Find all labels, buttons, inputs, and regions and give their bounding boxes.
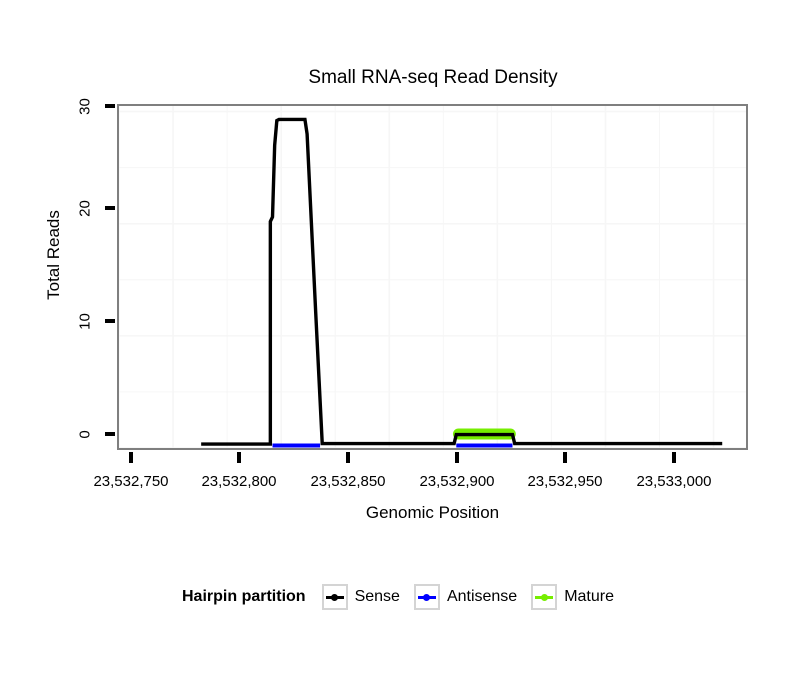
y-tick-label-20: 20 <box>78 194 93 224</box>
x-tick-mark-0 <box>129 452 133 463</box>
x-tick-mark-1 <box>237 452 241 463</box>
legend-item-antisense[interactable]: Antisense <box>414 584 517 610</box>
x-tick-mark-4 <box>563 452 567 463</box>
gridlines-minor <box>119 106 746 448</box>
legend-label-antisense: Antisense <box>447 588 517 606</box>
legend-item-sense[interactable]: Sense <box>322 584 400 610</box>
chart-title: Small RNA-seq Read Density <box>117 66 749 90</box>
y-tick-mark-20 <box>105 206 115 210</box>
legend-label-sense: Sense <box>355 588 400 606</box>
legend-label-mature: Mature <box>564 588 614 606</box>
legend-item-mature[interactable]: Mature <box>531 584 614 610</box>
y-tick-label-0: 0 <box>78 420 93 450</box>
y-tick-label-10: 10 <box>78 307 93 337</box>
x-axis-title: Genomic Position <box>117 503 748 523</box>
x-tick-mark-2 <box>346 452 350 463</box>
legend-key-antisense <box>414 584 440 610</box>
legend-key-dot-sense <box>331 594 338 601</box>
legend: Hairpin partition Sense Antisense Mature <box>0 584 810 610</box>
legend-key-mature <box>531 584 557 610</box>
chart-figure: Small RNA-seq Read Density 0 10 20 30 To… <box>0 0 810 690</box>
y-axis-title: Total Reads <box>44 195 64 315</box>
y-tick-label-30: 30 <box>78 92 93 122</box>
gridlines-major <box>119 106 746 448</box>
y-tick-mark-10 <box>105 319 115 323</box>
legend-key-dot-antisense <box>423 594 430 601</box>
y-tick-mark-30 <box>105 104 115 108</box>
x-tick-mark-3 <box>455 452 459 463</box>
x-tick-mark-5 <box>672 452 676 463</box>
plot-panel <box>117 104 748 450</box>
plot-area <box>119 106 746 448</box>
legend-key-sense <box>322 584 348 610</box>
y-tick-mark-0 <box>105 432 115 436</box>
legend-key-dot-mature <box>541 594 548 601</box>
x-tick-label-5: 23,533,000 <box>604 473 744 491</box>
legend-title: Hairpin partition <box>182 588 306 606</box>
